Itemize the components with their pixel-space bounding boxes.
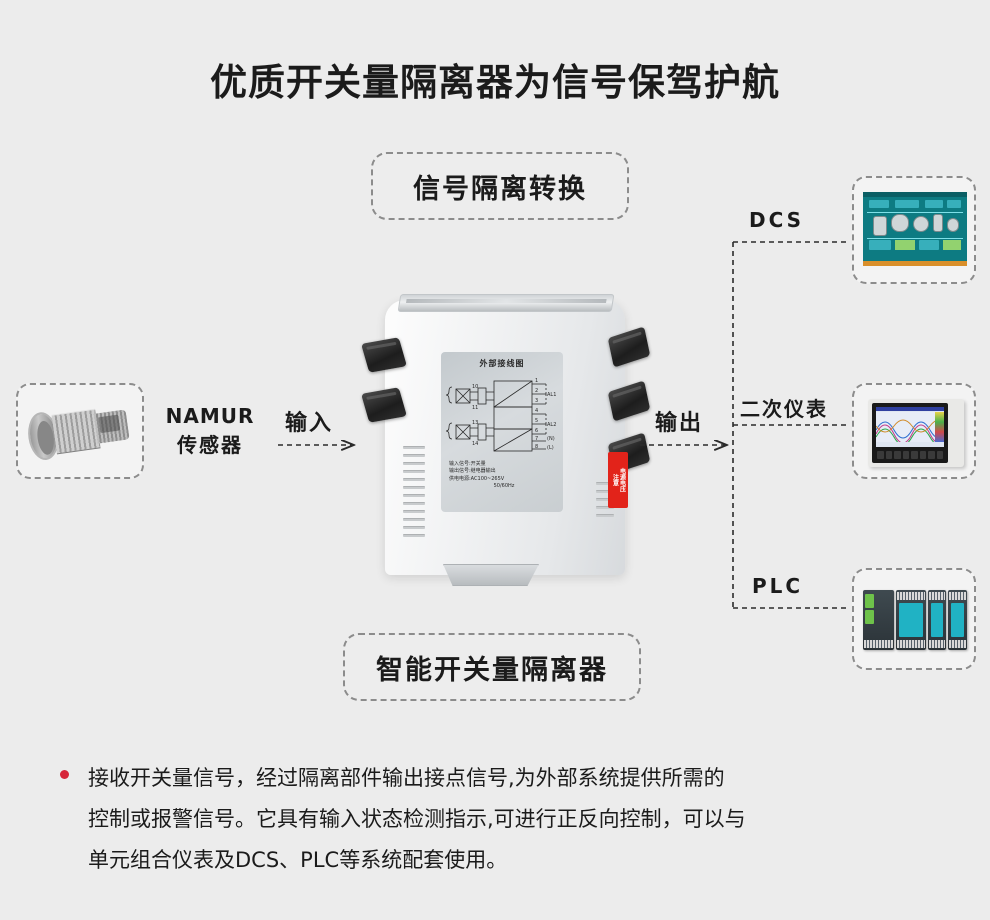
destination-label-dcs: DCS [749, 208, 804, 232]
svg-text:8: 8 [535, 444, 538, 450]
spec-line-3: 供电电源:AC100~265V [449, 476, 559, 483]
input-label: 输入 [285, 405, 333, 437]
isolator-device-photo: 外部接线图 [363, 286, 650, 586]
description-line-2: 控制或报警信号。它具有输入状态检测指示,可进行正反向控制，可以与 [62, 799, 942, 840]
sticker-title: 外部接线图 [445, 358, 559, 369]
svg-text:(N): (N) [547, 436, 555, 442]
bullet-icon [60, 770, 69, 779]
warning-line-2: 电源电压 [619, 468, 625, 492]
destination-label-meter: 二次仪表 [740, 393, 828, 422]
vent-slots-left [403, 446, 425, 537]
svg-text:AL2: AL2 [547, 422, 556, 428]
wiring-diagram: 10 11 13 14 1 2 3 4 5 6 7 8 AL1 AL2 [446, 371, 558, 459]
callout-signal-isolation: 信号隔离转换 [371, 152, 629, 220]
svg-text:2: 2 [535, 388, 538, 394]
product-diagram-page: 优质开关量隔离器为信号保驾护航 信号隔离转换 智能开关量隔离器 [0, 0, 990, 920]
plc-modules-icon [863, 590, 967, 650]
spec-line-2: 输出信号:继电器输出 [449, 468, 559, 475]
dcs-photo-frame [852, 176, 976, 284]
page-title: 优质开关量隔离器为信号保驾护航 [0, 52, 990, 106]
din-rail-clip [443, 564, 539, 586]
callout-bottom-label: 智能开关量隔离器 [376, 648, 608, 687]
namur-sensor-photo-frame [16, 383, 144, 479]
secondary-instrument-photo-frame [852, 383, 976, 479]
svg-text:11: 11 [472, 405, 478, 411]
description-line-3: 单元组合仪表及DCS、PLC等系统配套使用。 [62, 840, 942, 881]
svg-text:4: 4 [535, 408, 538, 414]
namur-label-line1: NAMUR [155, 404, 265, 428]
svg-text:13: 13 [472, 420, 478, 426]
plc-photo-frame [852, 568, 976, 670]
destination-label-plc: PLC [752, 574, 803, 598]
device-top-rail [398, 294, 615, 312]
output-label: 输出 [655, 405, 703, 437]
svg-text:5: 5 [535, 418, 538, 424]
description-line-1: 接收开关量信号，经过隔离部件输出接点信号,为外部系统提供所需的 [62, 758, 942, 799]
device-label-sticker: 外部接线图 [441, 352, 563, 512]
svg-text:1: 1 [535, 378, 538, 384]
svg-text:AL1: AL1 [547, 392, 556, 398]
svg-text:7: 7 [535, 436, 538, 442]
warning-line-1: 注意 [612, 474, 618, 486]
svg-text:(L): (L) [547, 445, 554, 451]
svg-text:3: 3 [535, 398, 538, 404]
description-block: 接收开关量信号，经过隔离部件输出接点信号,为外部系统提供所需的 控制或报警信号。… [62, 758, 942, 881]
proximity-sensor-icon [25, 398, 135, 464]
spec-line-4: 50/60Hz [449, 483, 559, 490]
namur-label-line2: 传感器 [155, 429, 265, 458]
svg-text:6: 6 [535, 428, 538, 434]
svg-text:14: 14 [472, 441, 478, 447]
device-spec-lines: 输入信号:开关量 输出信号:继电器输出 供电电源:AC100~265V 50/6… [445, 461, 559, 490]
svg-text:10: 10 [472, 384, 478, 390]
dcs-scada-screen-icon [863, 192, 967, 266]
callout-smart-isolator: 智能开关量隔离器 [343, 633, 641, 701]
warning-sticker: 注意 电源电压 [608, 452, 628, 508]
paperless-recorder-icon [868, 399, 964, 467]
callout-top-label: 信号隔离转换 [413, 167, 587, 206]
